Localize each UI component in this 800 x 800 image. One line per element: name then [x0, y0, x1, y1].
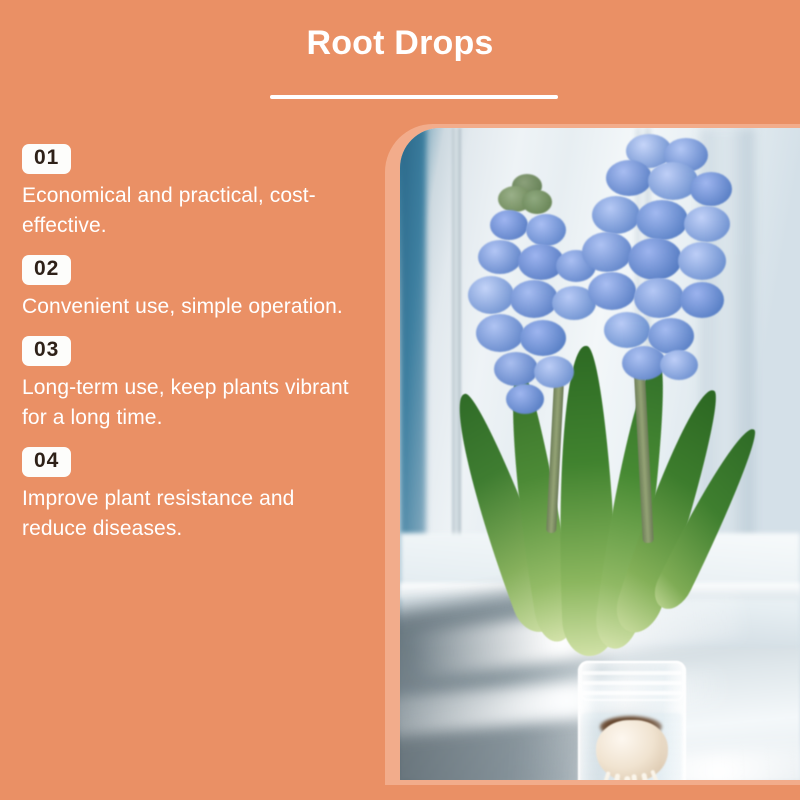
status-badge: 03 [22, 336, 71, 366]
list-item: 01 Economical and practical, cost-effect… [22, 144, 370, 241]
title-underline-divider [270, 95, 558, 99]
photo-floret [476, 314, 524, 352]
photo-floret [606, 160, 652, 196]
photo-flower-spike-right [548, 128, 718, 398]
photo-floret [680, 282, 724, 318]
feature-description: Improve plant resistance and reduce dise… [22, 484, 352, 544]
status-badge: 02 [22, 255, 71, 285]
photo-floret [636, 200, 688, 240]
list-item: 02 Convenient use, simple operation. [22, 255, 370, 322]
photo-floret [634, 278, 684, 318]
photo-floret [660, 350, 698, 380]
photo-floret [494, 352, 538, 386]
feature-description: Economical and practical, cost-effective… [22, 181, 352, 241]
photo-floret [628, 238, 682, 280]
photo-floret [582, 232, 632, 272]
feature-description: Convenient use, simple operation. [22, 292, 352, 322]
photo-floret [588, 272, 636, 310]
status-badge: 01 [22, 144, 71, 174]
photo-floret [684, 206, 730, 242]
photo-floret [592, 196, 640, 234]
photo-floret [678, 242, 726, 280]
photo-floret [604, 312, 650, 348]
photo-floret [468, 276, 514, 314]
status-badge: 04 [22, 447, 71, 477]
photo-floret [490, 210, 528, 240]
photo-floret [506, 384, 544, 414]
product-photo [400, 128, 800, 780]
feature-list: 01 Economical and practical, cost-effect… [22, 144, 370, 559]
page-title: Root Drops [0, 24, 800, 63]
feature-description: Long-term use, keep plants vibrant for a… [22, 373, 352, 433]
poster-canvas: Root Drops 01 Economical and practical, … [0, 0, 800, 800]
photo-floret [478, 240, 522, 274]
photo-floret [690, 172, 732, 206]
list-item: 04 Improve plant resistance and reduce d… [22, 447, 370, 544]
list-item: 03 Long-term use, keep plants vibrant fo… [22, 336, 370, 433]
photo-jar-glass-highlight [578, 661, 686, 780]
